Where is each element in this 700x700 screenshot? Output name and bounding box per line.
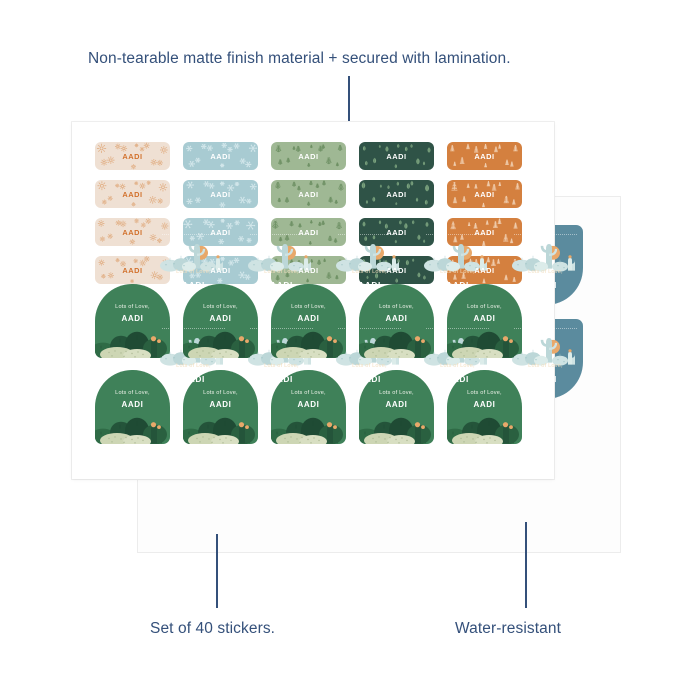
arch-script-text: Lots of Love, — [359, 304, 434, 310]
arch-script-text: Lots of Love, — [95, 304, 170, 310]
name-label-sticker-blue[interactable]: AADI — [183, 142, 258, 170]
shield-name-text: AADI — [420, 374, 495, 384]
arch-script-text: Lots of Love, — [447, 304, 522, 310]
sticker-name-text: AADI — [474, 228, 494, 237]
leader-line-count — [216, 534, 218, 608]
leader-line-water-resistant — [525, 522, 527, 608]
shield-script-text: Lots of Love, — [420, 363, 495, 369]
arch-name-text: AADI — [271, 314, 346, 323]
arch-name-text: AADI — [359, 400, 434, 409]
blue-sticker-sheet: Lots of Love, AADI Lots of Love, AADI — [138, 197, 620, 552]
arch-sticker-grid: Lots of Love, AADI Lots of Love, AADI — [95, 284, 535, 456]
sticker-name-text: AADI — [386, 228, 406, 237]
shield-script-text: Lots of Love, — [244, 363, 319, 369]
shield-name-text: AADI — [156, 374, 231, 384]
perforation-line — [162, 328, 225, 329]
sticker-name-text: AADI — [386, 190, 406, 199]
sticker-name-text: AADI — [210, 190, 230, 199]
sticker-name-text: AADI — [474, 152, 494, 161]
shield-name-text: AADI — [420, 280, 495, 290]
perforation-line — [338, 328, 401, 329]
arch-sticker-row: Lots of Love, AADI Lots of Love, AADI — [95, 284, 535, 358]
product-annotation-figure: Non-tearable matte finish material + sec… — [0, 0, 700, 700]
perforation-line — [514, 234, 577, 235]
shield-script-text: Lots of Love, — [508, 269, 583, 275]
arch-name-text: AADI — [447, 400, 522, 409]
perforation-line — [250, 328, 313, 329]
arch-name-text: AADI — [359, 314, 434, 323]
name-label-sticker-forest[interactable]: AADI — [359, 142, 434, 170]
annotation-water-resistant: Water-resistant — [455, 620, 561, 638]
name-label-sticker-sage[interactable]: AADI — [271, 180, 346, 208]
shield-name-text: AADI — [244, 280, 319, 290]
sticker-name-text: AADI — [122, 228, 142, 237]
arch-sticker[interactable]: Lots of Love, AADI — [271, 284, 346, 358]
arch-name-text: AADI — [95, 400, 170, 409]
arch-sticker[interactable]: Lots of Love, AADI — [183, 284, 258, 358]
sticker-name-text: AADI — [122, 152, 142, 161]
sticker-name-text: AADI — [122, 266, 142, 275]
annotation-material: Non-tearable matte finish material + sec… — [88, 50, 511, 68]
sticker-name-text: AADI — [122, 190, 142, 199]
shield-name-text: AADI — [508, 280, 583, 290]
perforation-line — [426, 328, 489, 329]
white-sticker-sheet: AADIAADIAADI AADIAADIAADIAADIAADI — [72, 122, 554, 479]
sticker-name-text: AADI — [210, 228, 230, 237]
arch-name-text: AADI — [183, 400, 258, 409]
name-label-sticker-blue[interactable]: AADI — [183, 180, 258, 208]
shield-script-text: Lots of Love, — [332, 269, 407, 275]
shield-name-text: AADI — [508, 374, 583, 384]
arch-name-text: AADI — [271, 400, 346, 409]
arch-name-text: AADI — [183, 314, 258, 323]
shield-script-text: Lots of Love, — [156, 269, 231, 275]
name-label-sticker-cream[interactable]: AADI — [95, 180, 170, 208]
sticker-name-text: AADI — [298, 228, 318, 237]
arch-name-text: AADI — [447, 314, 522, 323]
shield-script-text: Lots of Love, — [156, 363, 231, 369]
label-row: AADIAADIAADI AADIAADI — [95, 142, 535, 170]
arch-name-text: AADI — [95, 314, 170, 323]
arch-script-text: Lots of Love, — [183, 390, 258, 396]
shield-name-text: AADI — [244, 374, 319, 384]
label-row: AADIAADIAADI AADIAADI — [95, 180, 535, 208]
sticker-name-text: AADI — [298, 190, 318, 199]
perforation-line — [514, 328, 577, 329]
shield-name-text: AADI — [332, 280, 407, 290]
shield-script-text: Lots of Love, — [508, 363, 583, 369]
shield-script-text: Lots of Love, — [420, 269, 495, 275]
arch-sticker[interactable]: Lots of Love, AADI — [359, 284, 434, 358]
name-label-sticker-sage[interactable]: AADI — [271, 142, 346, 170]
arch-script-text: Lots of Love, — [95, 390, 170, 396]
name-label-sticker-cream[interactable]: AADI — [95, 142, 170, 170]
shield-name-text: AADI — [332, 374, 407, 384]
sticker-name-text: AADI — [474, 190, 494, 199]
arch-script-text: Lots of Love, — [447, 390, 522, 396]
arch-script-text: Lots of Love, — [359, 390, 434, 396]
annotation-sticker-count: Set of 40 stickers. — [150, 620, 275, 638]
sticker-name-text: AADI — [386, 152, 406, 161]
name-label-sticker-orange[interactable]: AADI — [447, 142, 522, 170]
name-label-sticker-forest[interactable]: AADI — [359, 180, 434, 208]
arch-script-text: Lots of Love, — [183, 304, 258, 310]
arch-sticker[interactable]: Lots of Love, AADI — [95, 284, 170, 358]
arch-sticker[interactable]: Lots of Love, AADI — [447, 284, 522, 358]
sticker-name-text: AADI — [210, 152, 230, 161]
shield-name-text: AADI — [156, 280, 231, 290]
arch-script-text: Lots of Love, — [271, 304, 346, 310]
sticker-name-text: AADI — [298, 152, 318, 161]
name-label-sticker-orange[interactable]: AADI — [447, 180, 522, 208]
shield-script-text: Lots of Love, — [244, 269, 319, 275]
arch-script-text: Lots of Love, — [271, 390, 346, 396]
shield-script-text: Lots of Love, — [332, 363, 407, 369]
